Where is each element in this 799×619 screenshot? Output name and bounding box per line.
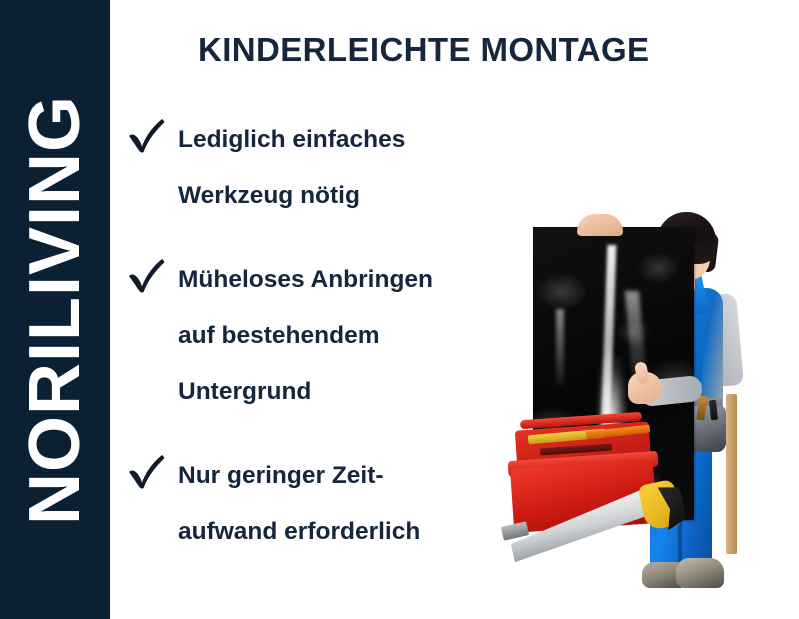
list-item-line: Müheloses Anbringen bbox=[178, 252, 526, 308]
advertisement-banner: NORILIVING KINDERLEICHTE MONTAGE Ledigli… bbox=[0, 0, 799, 619]
list-item-text: Müheloses Anbringen auf bestehendem Unte… bbox=[178, 252, 526, 420]
wooden-board bbox=[726, 394, 737, 554]
list-item-text: Nur geringer Zeit- aufwand erforderlich bbox=[178, 448, 526, 560]
brand-logo-text: NORILIVING bbox=[19, 94, 91, 524]
checkmark-icon bbox=[126, 452, 166, 490]
product-photo bbox=[490, 110, 799, 619]
list-item-line: Werkzeug nötig bbox=[178, 168, 526, 224]
list-item-text: Lediglich einfaches Werkzeug nötig bbox=[178, 112, 526, 224]
list-item-line: Lediglich einfaches bbox=[178, 112, 526, 168]
list-item: Nur geringer Zeit- aufwand erforderlich bbox=[126, 448, 526, 560]
handsaw-tip bbox=[501, 521, 529, 540]
checkmark-icon bbox=[126, 116, 166, 154]
list-item: Lediglich einfaches Werkzeug nötig bbox=[126, 112, 526, 224]
checkmark-icon bbox=[126, 256, 166, 294]
list-item-line: auf bestehendem bbox=[178, 308, 526, 364]
list-item-line: aufwand erforderlich bbox=[178, 504, 526, 560]
list-item-line: Untergrund bbox=[178, 364, 526, 420]
figure-shoe-right bbox=[676, 558, 724, 588]
feature-list: Lediglich einfaches Werkzeug nötig Mühel… bbox=[126, 112, 526, 560]
brand-sidebar: NORILIVING bbox=[0, 0, 110, 619]
figure-hand-top bbox=[577, 214, 623, 236]
panel-waterfall-left bbox=[556, 309, 564, 385]
list-item-line: Nur geringer Zeit- bbox=[178, 448, 526, 504]
page-title: KINDERLEICHTE MONTAGE bbox=[198, 31, 649, 69]
list-item: Müheloses Anbringen auf bestehendem Unte… bbox=[126, 252, 526, 420]
